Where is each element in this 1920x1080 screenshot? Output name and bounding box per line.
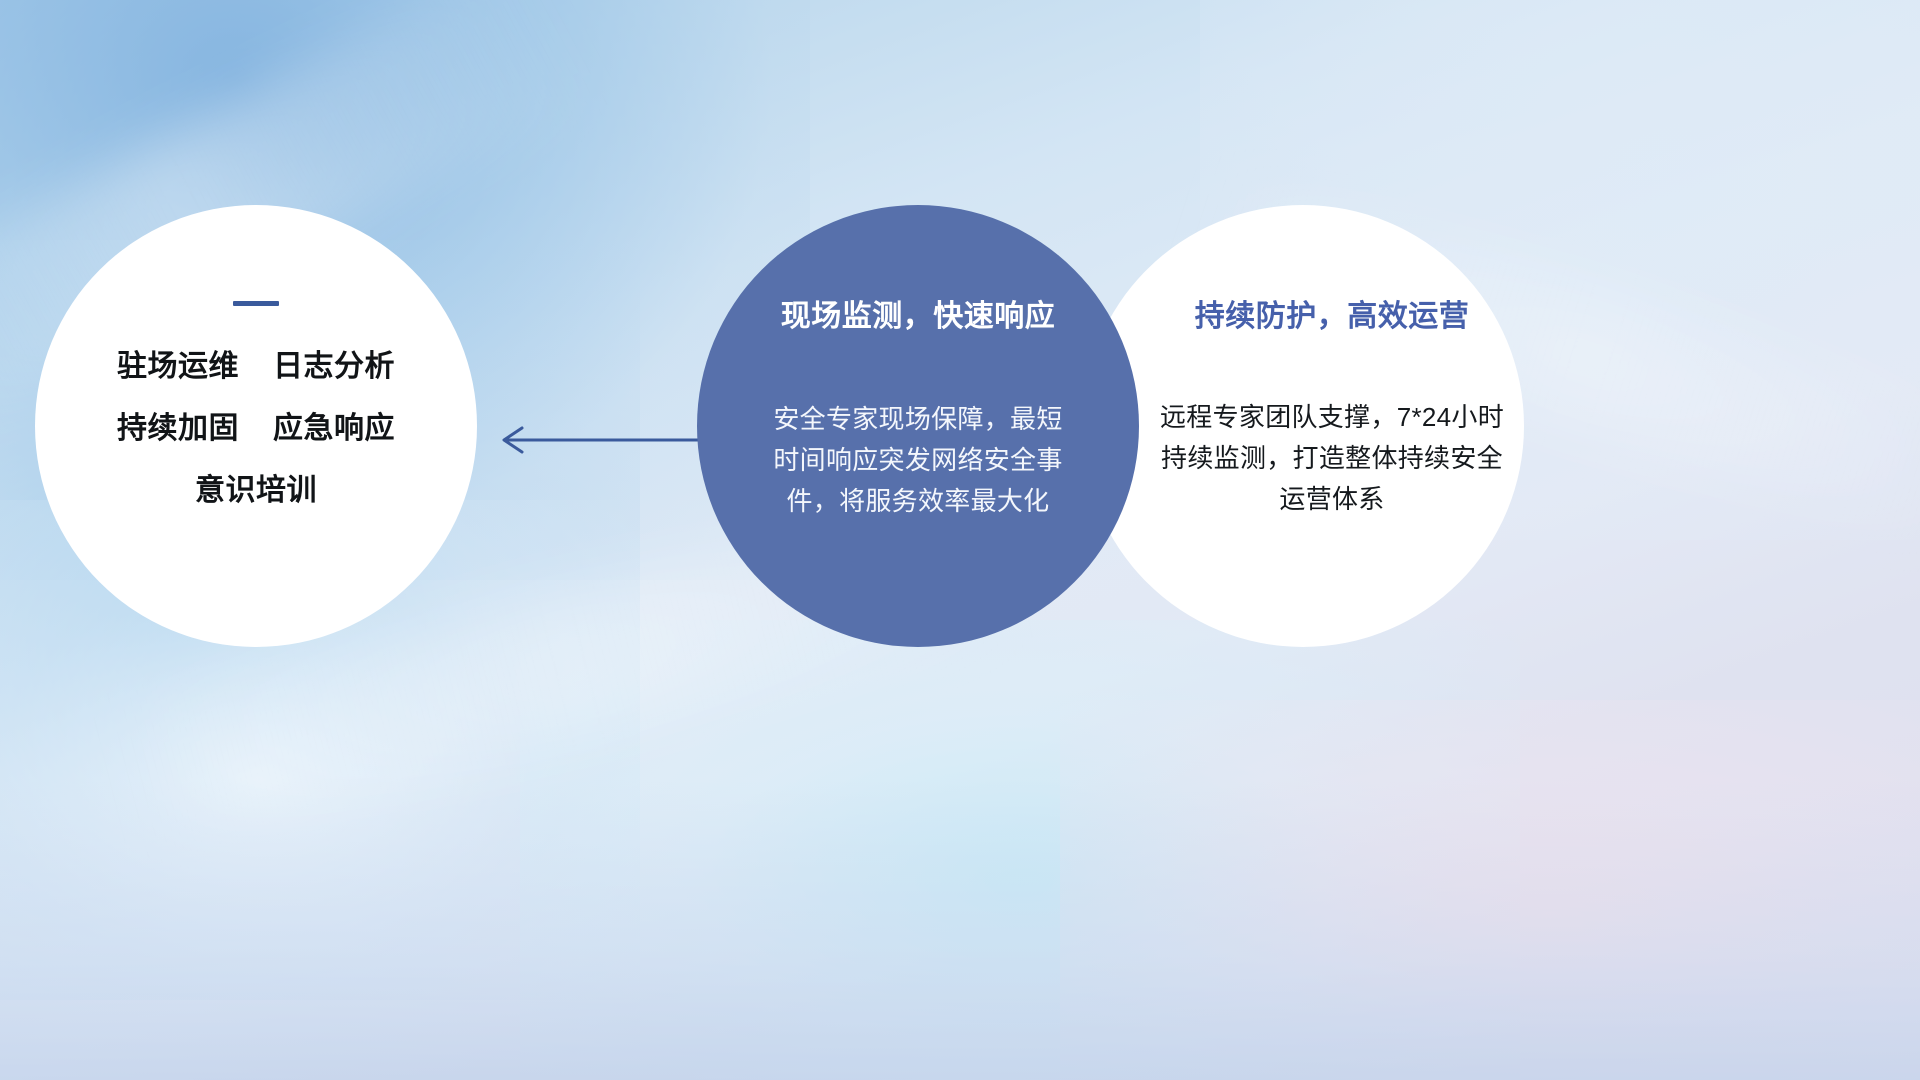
middle-circle-content: 现场监测，快速响应 安全专家现场保障，最短时间响应突发网络安全事件，将服务效率最… xyxy=(697,291,1139,522)
slide-canvas: 驻场运维 日志分析 持续加固 应急响应 意识培训 持续防护，高效运营 远程专家团… xyxy=(0,0,1920,1080)
capability-row-3: 意识培训 xyxy=(195,476,317,506)
capability-tag: 日志分析 xyxy=(273,352,395,382)
capability-row-1: 驻场运维 日志分析 xyxy=(117,352,395,382)
background-bottom-vignette xyxy=(0,780,1920,1080)
middle-circle-title: 现场监测，快速响应 xyxy=(781,291,1056,335)
capability-row-2: 持续加固 应急响应 xyxy=(117,414,395,444)
left-circle-content: 驻场运维 日志分析 持续加固 应急响应 意识培训 xyxy=(35,301,477,506)
capability-tag: 意识培训 xyxy=(195,476,317,506)
capability-tag: 持续加固 xyxy=(117,414,239,444)
divider-dash xyxy=(233,301,279,306)
right-circle-body: 远程专家团队支撑，7*24小时持续监测，打造整体持续安全运营体系 xyxy=(1152,397,1512,520)
flow-arrow-icon xyxy=(492,420,718,460)
capability-tag: 驻场运维 xyxy=(117,352,239,382)
capability-circle-right: 持续防护，高效运营 远程专家团队支撑，7*24小时持续监测，打造整体持续安全运营… xyxy=(1082,205,1524,647)
middle-circle-body: 安全专家现场保障，最短时间响应突发网络安全事件，将服务效率最大化 xyxy=(773,399,1063,522)
capability-tag: 应急响应 xyxy=(273,414,395,444)
right-circle-title: 持续防护，高效运营 xyxy=(1195,291,1470,335)
right-circle-content: 持续防护，高效运营 远程专家团队支撑，7*24小时持续监测，打造整体持续安全运营… xyxy=(1082,291,1524,520)
capability-circle-left: 驻场运维 日志分析 持续加固 应急响应 意识培训 xyxy=(35,205,477,647)
capability-circle-middle: 现场监测，快速响应 安全专家现场保障，最短时间响应突发网络安全事件，将服务效率最… xyxy=(697,205,1139,647)
